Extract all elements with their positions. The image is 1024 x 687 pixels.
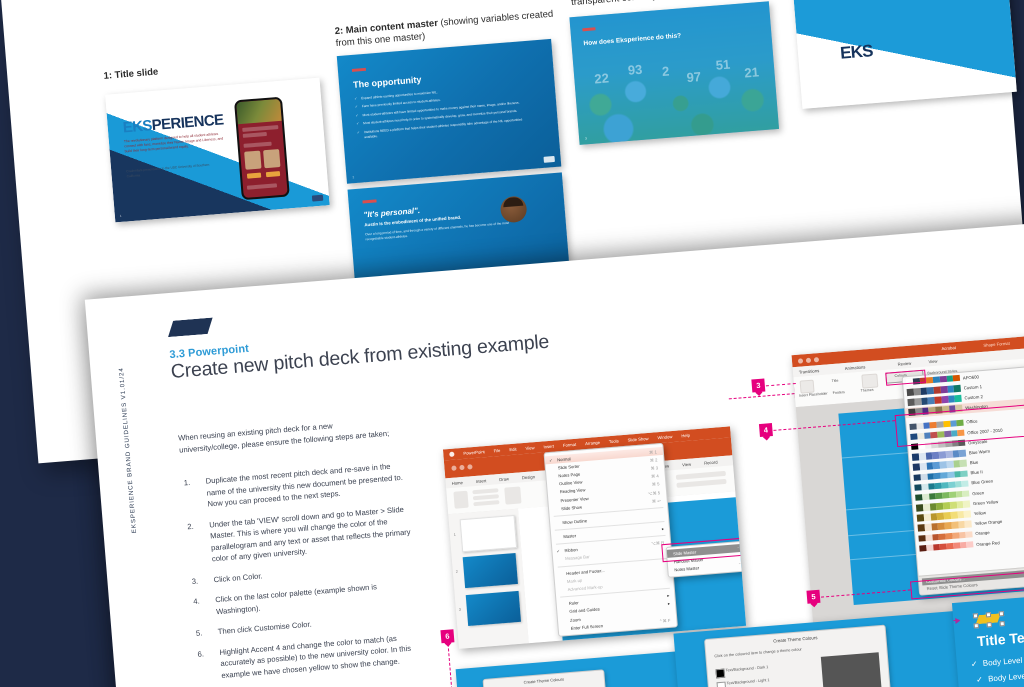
tab-insert[interactable]: Insert <box>476 478 487 484</box>
thumbnail-3[interactable]: 3 <box>466 591 521 626</box>
list-item: 2.Under the tab 'VIEW' scroll down and g… <box>185 503 416 567</box>
menubar-item[interactable]: Tools <box>609 438 619 444</box>
thumbnail-1[interactable]: 1 <box>460 515 517 552</box>
slide-footer-badge <box>544 156 555 163</box>
colour-chip[interactable] <box>717 682 727 687</box>
athlete-portrait <box>500 195 528 223</box>
minimize-icon[interactable] <box>806 358 811 363</box>
palette-row-container: AFO600Custom 1Custom 2WashingtonOfficeOf… <box>903 367 1024 554</box>
create-theme-colours-dialog: Create Theme Colours Click on the colour… <box>704 625 897 687</box>
create-theme-colours-dialog: Create Theme Colours Click on the colour… <box>482 669 613 687</box>
palette-item-label: Orange <box>975 530 990 536</box>
check-icon: ✓ <box>976 675 983 685</box>
themes-label: Themes <box>860 388 873 393</box>
thumb-number: 1 <box>454 533 456 537</box>
tab-view[interactable]: View <box>682 461 691 467</box>
tab-shape-format[interactable]: Shape Format <box>983 341 1010 348</box>
list-item: 1.Duplicate the most recent pitch deck a… <box>181 459 411 512</box>
palette-item-label: Custom 2 <box>964 394 983 400</box>
more-icon[interactable] <box>814 357 819 362</box>
palette-item-label: Blue Warm <box>969 449 990 456</box>
copy-button[interactable] <box>473 494 499 500</box>
paste-button[interactable] <box>453 491 468 509</box>
palette-item-label: Green Yellow <box>973 499 999 506</box>
theme-preview <box>821 652 882 687</box>
tab-acrobat[interactable]: Acrobat <box>941 345 956 351</box>
opportunity-title: The opportunity <box>353 74 422 89</box>
palette-item-label: Yellow Orange <box>974 519 1002 526</box>
slide-page-number: 2 <box>352 175 354 179</box>
dialog-row: Text/Background - Light 1 <box>726 678 769 685</box>
menubar-item[interactable]: Arrange <box>585 440 600 446</box>
colour-theme-dropdown[interactable]: AFO600Custom 1Custom 2WashingtonOfficeOf… <box>902 366 1024 596</box>
chevron-right-icon: ▸ <box>662 526 665 531</box>
palette-item-label: Blue <box>970 460 979 466</box>
menubar-item[interactable]: Format <box>563 442 577 448</box>
menubar-item[interactable]: File <box>493 448 500 454</box>
thumbnail-end-slide[interactable]: EKS <box>792 0 1017 109</box>
end-slide-bg <box>792 0 1017 109</box>
personal-title: "It's personal". <box>363 206 420 220</box>
leader-line-3 <box>766 383 796 386</box>
close-icon[interactable] <box>451 465 456 470</box>
palette-item-label: Orange Red <box>976 540 1000 547</box>
check-icon: ✓ <box>971 659 978 669</box>
insert-placeholder-icon[interactable] <box>800 380 815 394</box>
colour-chip[interactable] <box>715 669 725 679</box>
menubar-item[interactable]: Slide Show <box>627 436 648 443</box>
app-name: PowerPoint <box>463 449 485 456</box>
screenshot-master-slide: Title Text ✓ Body Level One ✓ Body Level… <box>952 587 1024 687</box>
callout-badge-5: 5 <box>806 590 820 604</box>
colour-swatch-strip <box>919 541 973 552</box>
label-title-slide: 1: Title slide <box>103 66 159 82</box>
leader-line-2 <box>729 393 795 399</box>
page-side-label: EKSPERIENCE BRAND GUIDELINES V1.01/24 <box>118 365 139 535</box>
callout-badge-6: 6 <box>440 629 454 643</box>
menubar-item[interactable]: Help <box>681 433 690 439</box>
steps-list: 1.Duplicate the most recent pitch deck a… <box>181 459 430 687</box>
menubar-item[interactable]: Edit <box>509 447 517 453</box>
chevron-right-icon: ▸ <box>668 601 671 606</box>
opportunity-bullets: Expand athlete earning opportunities to … <box>354 82 537 144</box>
align-tools[interactable] <box>676 479 726 488</box>
thumbnail-section-master[interactable]: 22 93 2 97 51 21 How does Eksperience do… <box>569 1 779 145</box>
master-body-two: Body Level Two <box>988 670 1024 683</box>
slide-page-number: 1 <box>120 214 122 218</box>
palette-item-label: Blue II <box>970 470 983 476</box>
parallelogram-icon <box>167 318 214 338</box>
new-slide-button[interactable] <box>504 486 521 504</box>
palette-item-label: AFO600 <box>963 374 979 380</box>
close-icon[interactable] <box>798 358 803 363</box>
palette-item-label: Yellow <box>974 510 987 516</box>
thumbnail-2[interactable]: 2 <box>463 553 518 588</box>
tab-draw[interactable]: Draw <box>499 476 509 482</box>
intro-paragraph: When reusing an existing pitch deck for … <box>178 415 394 455</box>
thumb-number: 3 <box>459 608 461 612</box>
slide-page-number: 3 <box>585 136 587 140</box>
master-body-one: Body Level One <box>982 654 1024 668</box>
insert-placeholder-label: Insert Placeholder <box>799 391 828 397</box>
menubar-item[interactable]: Window <box>657 434 672 440</box>
maximize-icon[interactable] <box>467 464 472 469</box>
screenshot-view-menu: PowerPoint File Edit View Insert Format … <box>443 426 746 648</box>
tab-record[interactable]: Record <box>704 459 718 465</box>
minimize-icon[interactable] <box>459 465 464 470</box>
thumbnail-title-slide[interactable]: EKSPERIENCE The revolutionary platform d… <box>105 78 330 223</box>
red-dash-icon <box>362 199 376 203</box>
cut-button[interactable] <box>472 488 498 494</box>
tab-review[interactable]: Review <box>897 360 911 366</box>
tab-design[interactable]: Design <box>522 474 535 480</box>
thumb-number: 2 <box>456 570 458 574</box>
footers-checkbox-label[interactable]: Footers <box>833 390 845 395</box>
slide-thumbnail-pane[interactable]: 1 2 3 <box>448 509 530 649</box>
format-button[interactable] <box>473 500 499 506</box>
end-slide-logo: EKS <box>839 41 873 64</box>
palette-item-label: Custom 1 <box>963 384 982 390</box>
menubar-item[interactable]: Insert <box>543 444 554 450</box>
phone-mockup <box>234 97 290 201</box>
list-item: 6.Highlight Accent 4 and change the colo… <box>195 631 425 684</box>
dialog-row: Text/Background - Dark 1 <box>725 665 768 672</box>
palette-item-label: Green <box>972 490 984 496</box>
tab-home[interactable]: Home <box>451 480 463 486</box>
leader-line-6 <box>448 644 453 687</box>
instruction-page: EKSPERIENCE BRAND GUIDELINES V1.01/24 3.… <box>85 218 1024 687</box>
chevron-right-icon: ▸ <box>667 593 670 598</box>
thumbnail-content-master[interactable]: The opportunity Expand athlete earning o… <box>337 39 562 184</box>
red-dash-icon <box>352 68 366 72</box>
page-title: Create new pitch deck from existing exam… <box>170 331 550 384</box>
title-checkbox-label[interactable]: Title <box>832 379 839 384</box>
menubar-item-view[interactable]: View <box>525 445 534 451</box>
tab-animations[interactable]: Animations <box>845 364 866 371</box>
themes-icon[interactable] <box>861 373 878 388</box>
master-title-text: Title Text <box>976 628 1024 649</box>
screenshot-colour-palette: Acrobat Shape Format Transitions Animati… <box>792 331 1024 624</box>
callout-badge-4: 4 <box>759 423 773 437</box>
view-dropdown-menu[interactable]: Normal⌘ 1 Slide Sorter⌘ 2 Notes Page⌘ 3 … <box>544 443 678 637</box>
tab-transitions[interactable]: Transitions <box>799 368 820 375</box>
apple-icon <box>449 452 454 457</box>
annotation-arrow <box>952 620 959 625</box>
tab-view[interactable]: View <box>928 358 937 364</box>
slide-footer-badge <box>312 195 323 202</box>
screenshot-stage: 1: Title slide 2: Main content master (s… <box>0 0 1024 687</box>
palette-item-label: Blue Green <box>971 479 993 486</box>
callout-badge-3: 3 <box>751 378 765 392</box>
